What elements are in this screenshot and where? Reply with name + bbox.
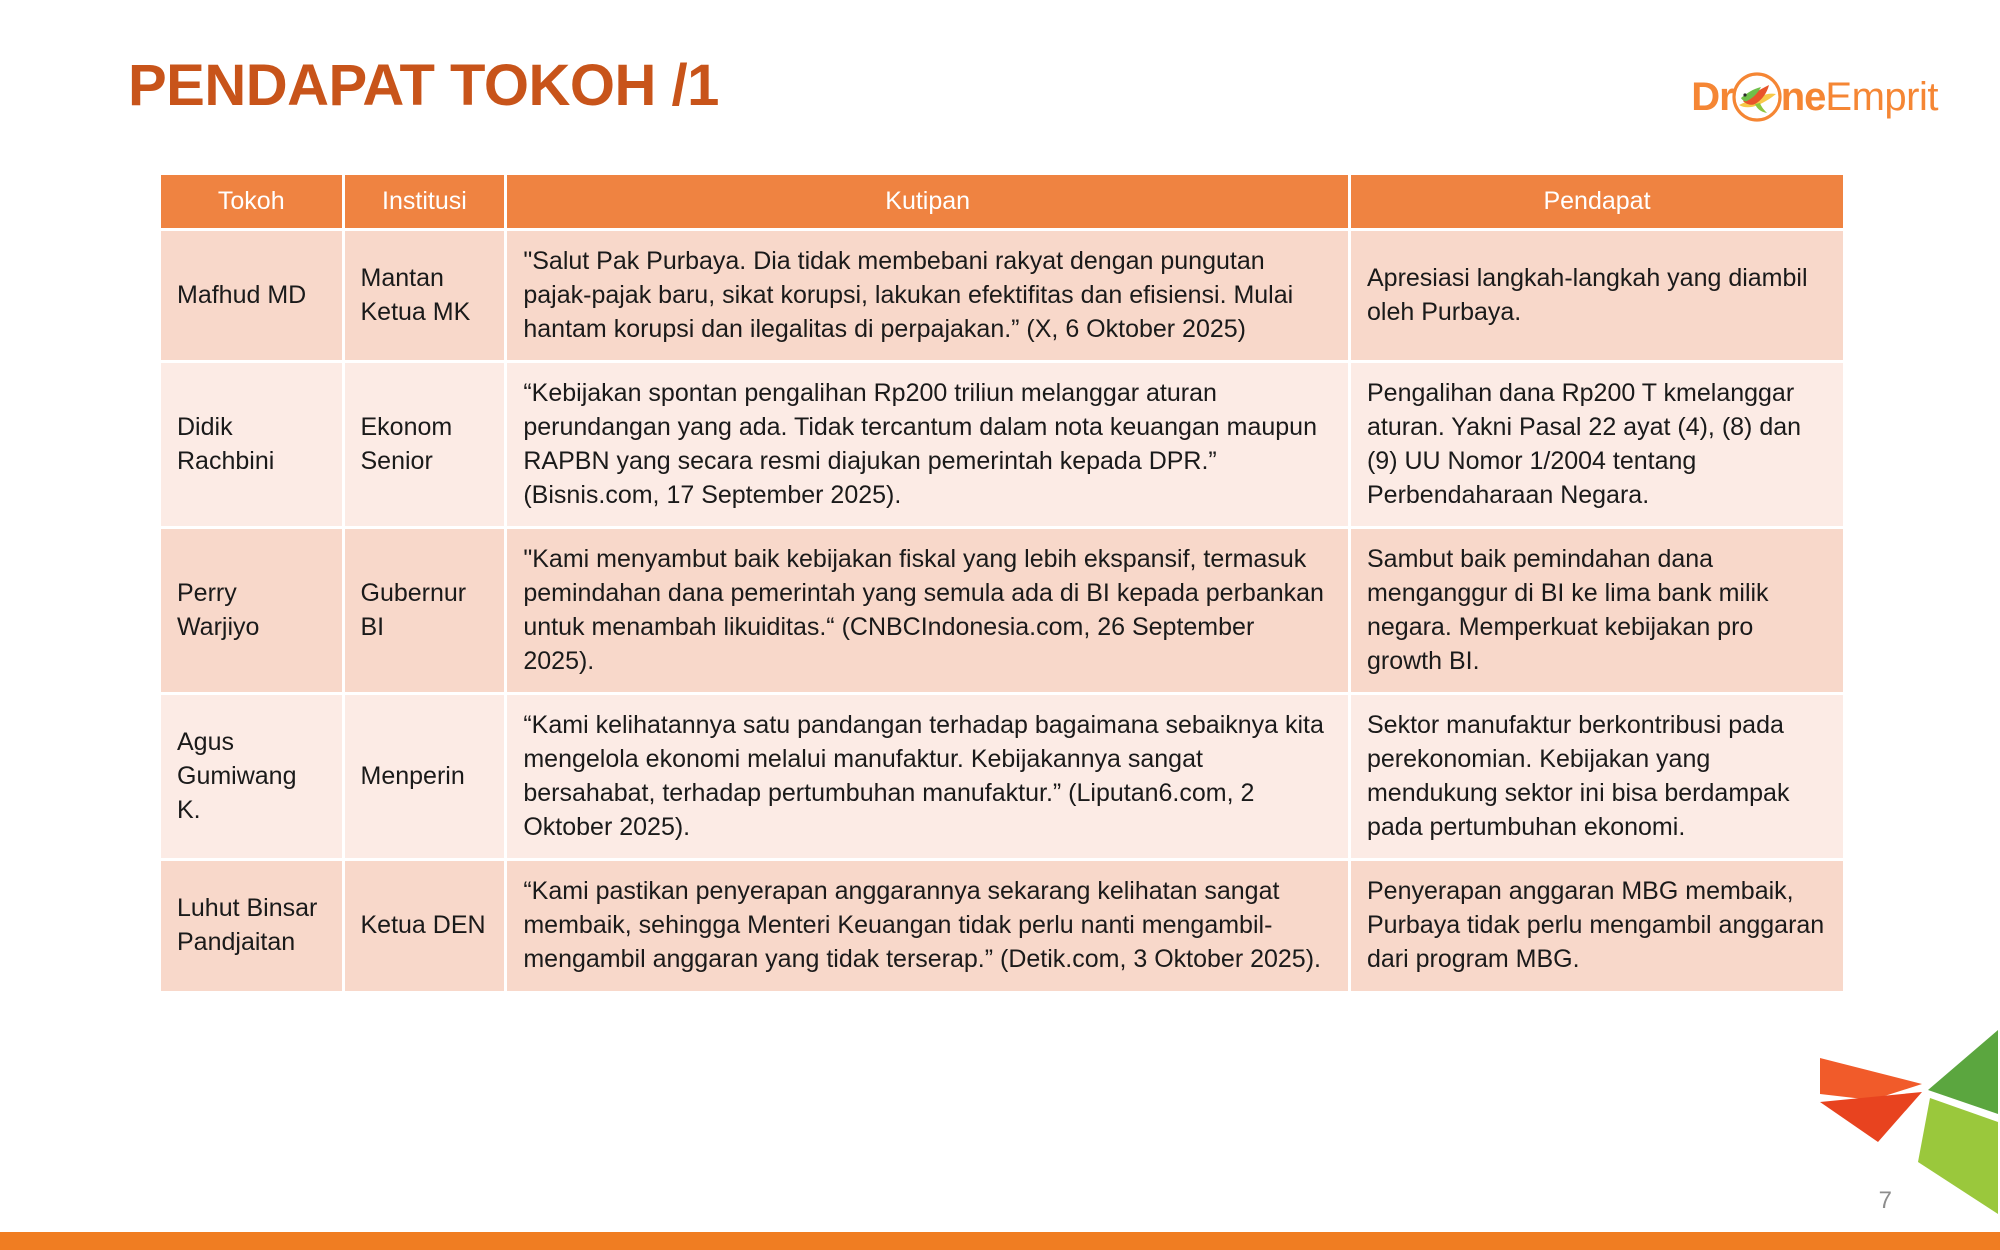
drone-bird-circle-icon bbox=[1731, 71, 1783, 123]
column-header-pendapat: Pendapat bbox=[1351, 175, 1843, 228]
table-row: Perry Warjiyo Gubernur BI "Kami menyambu… bbox=[161, 529, 1843, 692]
cell-tokoh: Luhut Binsar Pandjaitan bbox=[161, 861, 342, 990]
cell-tokoh: Mafhud MD bbox=[161, 231, 342, 360]
cell-tokoh: Perry Warjiyo bbox=[161, 529, 342, 692]
table-header: Tokoh Institusi Kutipan Pendapat bbox=[161, 175, 1843, 228]
cell-institusi: Gubernur BI bbox=[345, 529, 505, 692]
decorative-fan-graphic bbox=[1810, 1022, 2000, 1232]
cell-kutipan: “Kami kelihatannya satu pandangan terhad… bbox=[507, 695, 1348, 858]
cell-pendapat: Apresiasi langkah-langkah yang diambil o… bbox=[1351, 231, 1843, 360]
bottom-accent-bar bbox=[0, 1232, 2000, 1250]
opinion-table: Tokoh Institusi Kutipan Pendapat Mafhud … bbox=[158, 172, 1846, 994]
logo-text-ne: ne bbox=[1781, 77, 1826, 117]
cell-pendapat: Sektor manufaktur berkontribusi pada per… bbox=[1351, 695, 1843, 858]
cell-institusi: Ekonom Senior bbox=[345, 363, 505, 526]
cell-institusi: Mantan Ketua MK bbox=[345, 231, 505, 360]
logo-text-dr: Dr bbox=[1691, 77, 1733, 117]
cell-tokoh: Agus Gumiwang K. bbox=[161, 695, 342, 858]
cell-institusi: Ketua DEN bbox=[345, 861, 505, 990]
cell-pendapat: Pengalihan dana Rp200 T kmelanggar atura… bbox=[1351, 363, 1843, 526]
column-header-kutipan: Kutipan bbox=[507, 175, 1348, 228]
cell-tokoh: Didik Rachbini bbox=[161, 363, 342, 526]
drone-emprit-logo: Dr ne Emprit bbox=[1691, 68, 1938, 126]
page-number: 7 bbox=[1879, 1187, 1892, 1215]
page-title: PENDAPAT TOKOH /1 bbox=[128, 52, 719, 119]
table-row: Agus Gumiwang K. Menperin “Kami kelihata… bbox=[161, 695, 1843, 858]
cell-kutipan: “Kebijakan spontan pengalihan Rp200 tril… bbox=[507, 363, 1348, 526]
table-body: Mafhud MD Mantan Ketua MK "Salut Pak Pur… bbox=[161, 231, 1843, 991]
table-header-row: Tokoh Institusi Kutipan Pendapat bbox=[161, 175, 1843, 228]
cell-pendapat: Sambut baik pemindahan dana menganggur d… bbox=[1351, 529, 1843, 692]
cell-kutipan: “Kami pastikan penyerapan anggarannya se… bbox=[507, 861, 1348, 990]
table-row: Didik Rachbini Ekonom Senior “Kebijakan … bbox=[161, 363, 1843, 526]
logo-text-emprit: Emprit bbox=[1825, 77, 1938, 117]
opinion-table-container: Tokoh Institusi Kutipan Pendapat Mafhud … bbox=[158, 172, 1846, 994]
cell-kutipan: "Salut Pak Purbaya. Dia tidak membebani … bbox=[507, 231, 1348, 360]
cell-pendapat: Penyerapan anggaran MBG membaik, Purbaya… bbox=[1351, 861, 1843, 990]
column-header-institusi: Institusi bbox=[345, 175, 505, 228]
cell-institusi: Menperin bbox=[345, 695, 505, 858]
column-header-tokoh: Tokoh bbox=[161, 175, 342, 228]
cell-kutipan: "Kami menyambut baik kebijakan fiskal ya… bbox=[507, 529, 1348, 692]
table-row: Mafhud MD Mantan Ketua MK "Salut Pak Pur… bbox=[161, 231, 1843, 360]
table-row: Luhut Binsar Pandjaitan Ketua DEN “Kami … bbox=[161, 861, 1843, 990]
